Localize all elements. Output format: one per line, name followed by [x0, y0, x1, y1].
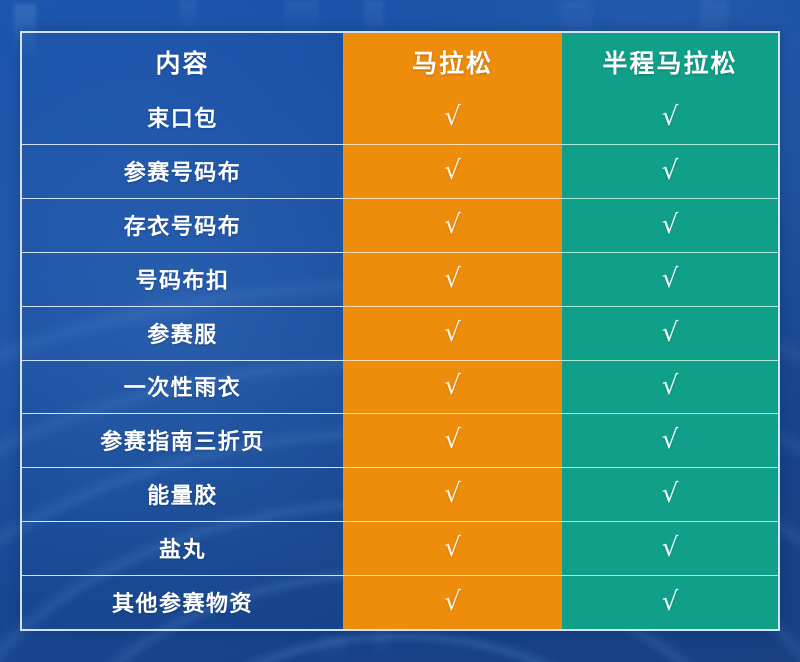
table-body: 束口包√√参赛号码布√√存衣号码布√√号码布扣√√参赛服√√一次性雨衣√√参赛指… — [22, 90, 778, 629]
check-icon: √ — [662, 373, 679, 399]
background-glow-block — [320, 636, 346, 662]
cell-marathon-included: √ — [343, 575, 562, 629]
cell-item-name: 参赛指南三折页 — [22, 413, 343, 467]
check-icon: √ — [444, 589, 461, 615]
cell-marathon-included: √ — [343, 306, 562, 360]
cell-marathon-included: √ — [343, 144, 562, 198]
check-icon: √ — [444, 373, 461, 399]
background-glow-block — [180, 0, 196, 30]
cell-half-marathon-included: √ — [562, 144, 778, 198]
cell-marathon-included: √ — [343, 252, 562, 306]
cell-half-marathon-included: √ — [562, 198, 778, 252]
cell-item-name: 号码布扣 — [22, 252, 343, 306]
cell-item-name: 参赛服 — [22, 306, 343, 360]
cell-marathon-included: √ — [343, 521, 562, 575]
check-icon: √ — [444, 266, 461, 292]
table-row: 参赛服√√ — [22, 306, 778, 360]
table-row: 参赛号码布√√ — [22, 144, 778, 198]
cell-half-marathon-included: √ — [562, 360, 778, 414]
cell-marathon-included: √ — [343, 413, 562, 467]
cell-half-marathon-included: √ — [562, 90, 778, 144]
check-icon: √ — [662, 427, 679, 453]
cell-half-marathon-included: √ — [562, 575, 778, 629]
cell-item-name: 存衣号码布 — [22, 198, 343, 252]
table-row: 其他参赛物资√√ — [22, 575, 778, 629]
cell-half-marathon-included: √ — [562, 521, 778, 575]
cell-item-name: 其他参赛物资 — [22, 575, 343, 629]
cell-item-name: 参赛号码布 — [22, 144, 343, 198]
check-icon: √ — [662, 104, 679, 130]
cell-item-name: 能量胶 — [22, 467, 343, 521]
check-icon: √ — [444, 481, 461, 507]
cell-half-marathon-included: √ — [562, 467, 778, 521]
check-icon: √ — [662, 589, 679, 615]
table-row: 号码布扣√√ — [22, 252, 778, 306]
check-icon: √ — [444, 212, 461, 238]
column-header-half-marathon: 半程马拉松 — [562, 33, 778, 90]
background-glow-block — [372, 632, 392, 662]
table-row: 束口包√√ — [22, 90, 778, 144]
cell-marathon-included: √ — [343, 467, 562, 521]
check-icon: √ — [662, 266, 679, 292]
column-header-content: 内容 — [22, 33, 343, 90]
cell-half-marathon-included: √ — [562, 252, 778, 306]
cell-item-name: 盐丸 — [22, 521, 343, 575]
check-icon: √ — [662, 535, 679, 561]
cell-marathon-included: √ — [343, 90, 562, 144]
cell-marathon-included: √ — [343, 360, 562, 414]
cell-item-name: 一次性雨衣 — [22, 360, 343, 414]
race-kit-comparison-table: 内容 马拉松 半程马拉松 束口包√√参赛号码布√√存衣号码布√√号码布扣√√参赛… — [20, 31, 780, 631]
check-icon: √ — [444, 104, 461, 130]
check-icon: √ — [444, 427, 461, 453]
check-icon: √ — [444, 158, 461, 184]
check-icon: √ — [444, 535, 461, 561]
cell-marathon-included: √ — [343, 198, 562, 252]
check-icon: √ — [662, 481, 679, 507]
table-row: 盐丸√√ — [22, 521, 778, 575]
check-icon: √ — [662, 158, 679, 184]
check-icon: √ — [662, 320, 679, 346]
table-row: 参赛指南三折页√√ — [22, 413, 778, 467]
table-row: 一次性雨衣√√ — [22, 360, 778, 414]
check-icon: √ — [444, 320, 461, 346]
cell-half-marathon-included: √ — [562, 413, 778, 467]
table-row: 能量胶√√ — [22, 467, 778, 521]
column-header-marathon: 马拉松 — [343, 33, 562, 90]
check-icon: √ — [662, 212, 679, 238]
table-header-row: 内容 马拉松 半程马拉松 — [22, 33, 778, 90]
table-row: 存衣号码布√√ — [22, 198, 778, 252]
cell-half-marathon-included: √ — [562, 306, 778, 360]
cell-item-name: 束口包 — [22, 90, 343, 144]
